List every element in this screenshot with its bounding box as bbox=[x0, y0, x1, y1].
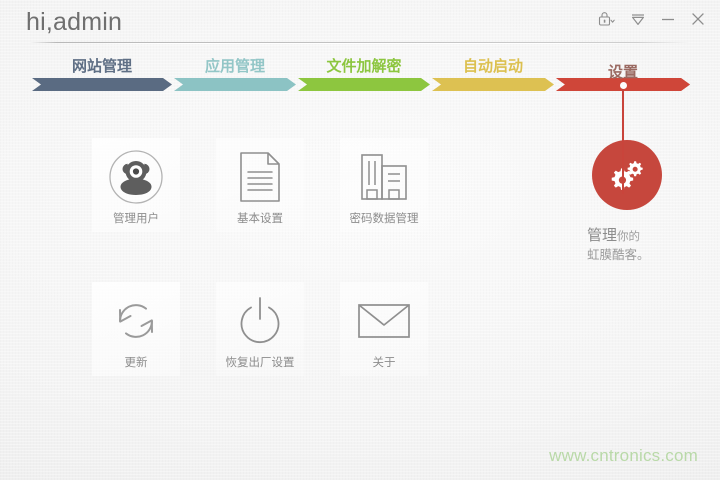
watermark: www.cntronics.com bbox=[549, 446, 698, 466]
gears-badge[interactable] bbox=[592, 140, 662, 210]
nav-step-label: 文件加解密 bbox=[298, 56, 430, 76]
nav-step-active-dot bbox=[620, 82, 627, 89]
hero-caption-rest: 你的 bbox=[617, 229, 640, 243]
hero-caption-strong: 管理 bbox=[587, 226, 617, 244]
gears-icon bbox=[605, 155, 649, 195]
refresh-icon bbox=[110, 296, 162, 346]
user-avatar-icon bbox=[107, 152, 165, 202]
tile-label: 密码数据管理 bbox=[350, 210, 419, 226]
nav-step-4[interactable]: 设置 bbox=[556, 54, 690, 100]
step-nav: 网站管理应用管理文件加解密自动启动设置 bbox=[0, 54, 720, 104]
window-controls bbox=[598, 11, 706, 27]
nav-step-1[interactable]: 应用管理 bbox=[174, 54, 296, 100]
minimize-icon[interactable] bbox=[660, 11, 676, 27]
hero-caption: 管理你的 虹膜酷客。 bbox=[585, 226, 669, 263]
power-icon bbox=[234, 296, 286, 346]
tile-basic-settings[interactable]: 基本设置 bbox=[216, 138, 304, 232]
buildings-icon bbox=[359, 152, 409, 202]
hero-caption-line2: 虹膜酷客。 bbox=[587, 246, 669, 263]
collapse-icon[interactable] bbox=[630, 11, 646, 27]
nav-step-chevron bbox=[432, 78, 554, 91]
nav-step-chevron bbox=[174, 78, 296, 91]
nav-step-chevron bbox=[32, 78, 172, 91]
tile-label: 关于 bbox=[373, 354, 396, 370]
close-icon[interactable] bbox=[690, 11, 706, 27]
nav-step-label: 应用管理 bbox=[174, 56, 296, 76]
nav-step-3[interactable]: 自动启动 bbox=[432, 54, 554, 100]
tile-label: 恢复出厂设置 bbox=[226, 354, 295, 370]
page-title: hi,admin bbox=[26, 8, 122, 37]
title-bar: hi,admin bbox=[0, 0, 720, 42]
tile-about[interactable]: 关于 bbox=[340, 282, 428, 376]
envelope-icon bbox=[357, 296, 411, 346]
nav-step-label: 设置 bbox=[556, 62, 690, 82]
lock-icon[interactable] bbox=[598, 11, 616, 27]
settings-tile-grid: 管理用户 基本设置 密码数据管理 bbox=[92, 138, 432, 378]
title-divider bbox=[30, 42, 690, 43]
nav-step-label: 自动启动 bbox=[432, 56, 554, 76]
settings-hero: 管理你的 虹膜酷客。 bbox=[585, 140, 669, 263]
nav-step-label: 网站管理 bbox=[32, 56, 172, 76]
tile-manage-users[interactable]: 管理用户 bbox=[92, 138, 180, 232]
tile-label: 管理用户 bbox=[113, 210, 159, 226]
document-icon bbox=[239, 152, 281, 202]
nav-step-connector-line bbox=[622, 86, 624, 194]
tile-label: 更新 bbox=[125, 354, 148, 370]
tile-update[interactable]: 更新 bbox=[92, 282, 180, 376]
tile-password-data[interactable]: 密码数据管理 bbox=[340, 138, 428, 232]
nav-step-0[interactable]: 网站管理 bbox=[32, 54, 172, 100]
tile-label: 基本设置 bbox=[237, 210, 283, 226]
tile-factory-reset[interactable]: 恢复出厂设置 bbox=[216, 282, 304, 376]
nav-step-2[interactable]: 文件加解密 bbox=[298, 54, 430, 100]
nav-step-chevron bbox=[298, 78, 430, 91]
app-window: hi,admin bbox=[0, 0, 720, 480]
